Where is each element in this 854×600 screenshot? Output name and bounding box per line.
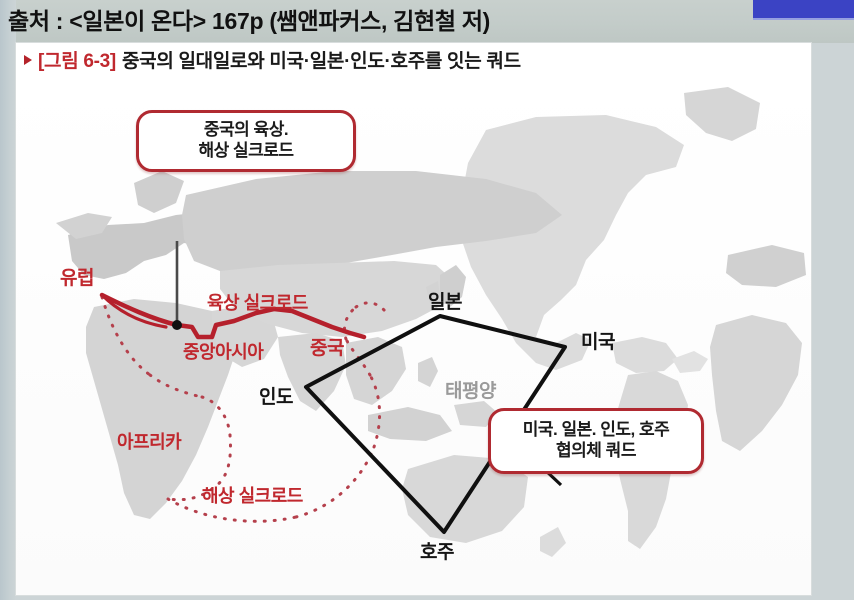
map-label-pacific-ocean: 태평양 xyxy=(445,376,496,403)
callout-quad-line1: 미국. 일본. 인도, 호주 xyxy=(523,420,669,441)
callout-silk-road: 중국의 육상. 해상 실크로드 xyxy=(136,110,356,172)
triangle-right-icon xyxy=(24,55,32,65)
callout-quad-line2: 협의체 쿼드 xyxy=(523,441,669,462)
silkroad-anchor-dot xyxy=(172,320,182,330)
map-label-africa: 아프리카 xyxy=(117,428,181,454)
figure-title: 중국의 일대일로와 미국·일본·인도·호주를 잇는 쿼드 xyxy=(122,51,521,72)
map-label-usa: 미국 xyxy=(581,327,615,354)
map-label-central-asia: 중앙아시아 xyxy=(183,338,263,364)
blue-accent-tab xyxy=(753,0,854,20)
map-label-india: 인도 xyxy=(259,382,293,409)
map-label-china: 중국 xyxy=(310,333,344,360)
window-left-strip xyxy=(0,0,16,600)
map-label-japan: 일본 xyxy=(428,287,462,314)
callout-silk-road-line1: 중국의 육상. xyxy=(198,120,293,141)
map-label-australia: 호주 xyxy=(420,537,454,564)
map-label-land-silk-road: 육상 실크로드 xyxy=(207,289,308,315)
callout-silk-road-line2: 해상 실크로드 xyxy=(198,141,293,162)
figure-code: [그림 6-3] xyxy=(38,51,116,72)
figure-caption: [그림 6-3]중국의 일대일로와 미국·일본·인도·호주를 잇는 쿼드 xyxy=(24,46,521,73)
slide-stage: 출처 : <일본이 온다> 167p (쌤앤파커스, 김현철 저) [그림 6-… xyxy=(0,0,854,600)
map-label-maritime-silk-road: 해상 실크로드 xyxy=(202,482,303,508)
source-line: 출처 : <일본이 온다> 167p (쌤앤파커스, 김현철 저) xyxy=(8,2,490,36)
callout-quad: 미국. 일본. 인도, 호주 협의체 쿼드 xyxy=(488,408,704,474)
map-label-europe: 유럽 xyxy=(60,263,94,290)
